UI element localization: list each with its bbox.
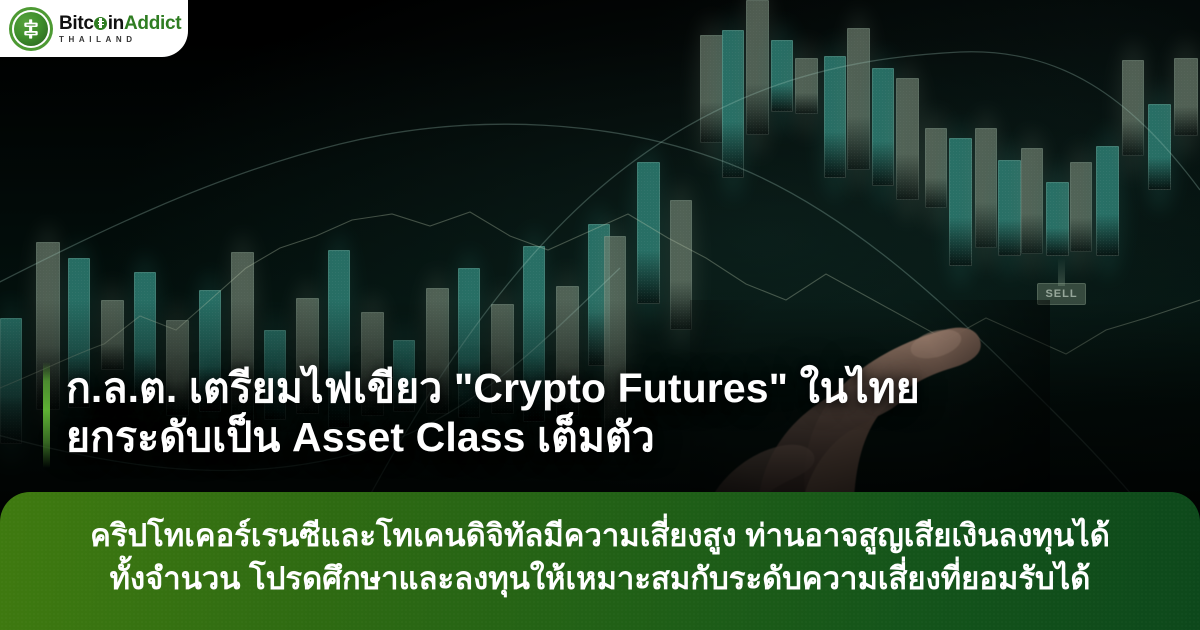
headline-block: ก.ล.ต. เตรียมไฟเขียว "Crypto Futures" ใน…: [43, 362, 920, 468]
brand-word-addict: Addict: [124, 13, 181, 34]
page-title: ก.ล.ต. เตรียมไฟเขียว "Crypto Futures" ใน…: [66, 362, 920, 468]
disclaimer-line-1: คริปโทเคอร์เรนซีและโทเคนดิจิทัลมีความเสี…: [90, 515, 1110, 558]
brand-logo-badge[interactable]: BitcinAddict THAILAND: [0, 0, 188, 57]
disclaimer-line-2: ทั้งจำนวน โปรดศึกษาและลงทุนให้เหมาะสมกับ…: [110, 558, 1091, 601]
headline-accent-bar: [43, 362, 50, 468]
brand-word-bitcoin-suffix: in: [108, 13, 124, 34]
risk-disclaimer-bar: คริปโทเคอร์เรนซีและโทเคนดิจิทัลมีความเสี…: [0, 492, 1200, 630]
brand-tagline: THAILAND: [59, 36, 181, 44]
brand-bitcoin-o-icon: [94, 17, 107, 30]
sell-marker-stem: [1058, 258, 1065, 286]
brand-wordmark: BitcinAddict THAILAND: [59, 14, 181, 44]
headline-line-2: ยกระดับเป็น Asset Class เต็มตัว: [66, 413, 920, 462]
social-card: SELL: [0, 0, 1200, 630]
bitcoin-coin-icon: [12, 10, 50, 48]
brand-word-bitcoin-prefix: Bitc: [59, 13, 94, 34]
headline-line-1: ก.ล.ต. เตรียมไฟเขียว "Crypto Futures" ใน…: [66, 364, 920, 413]
